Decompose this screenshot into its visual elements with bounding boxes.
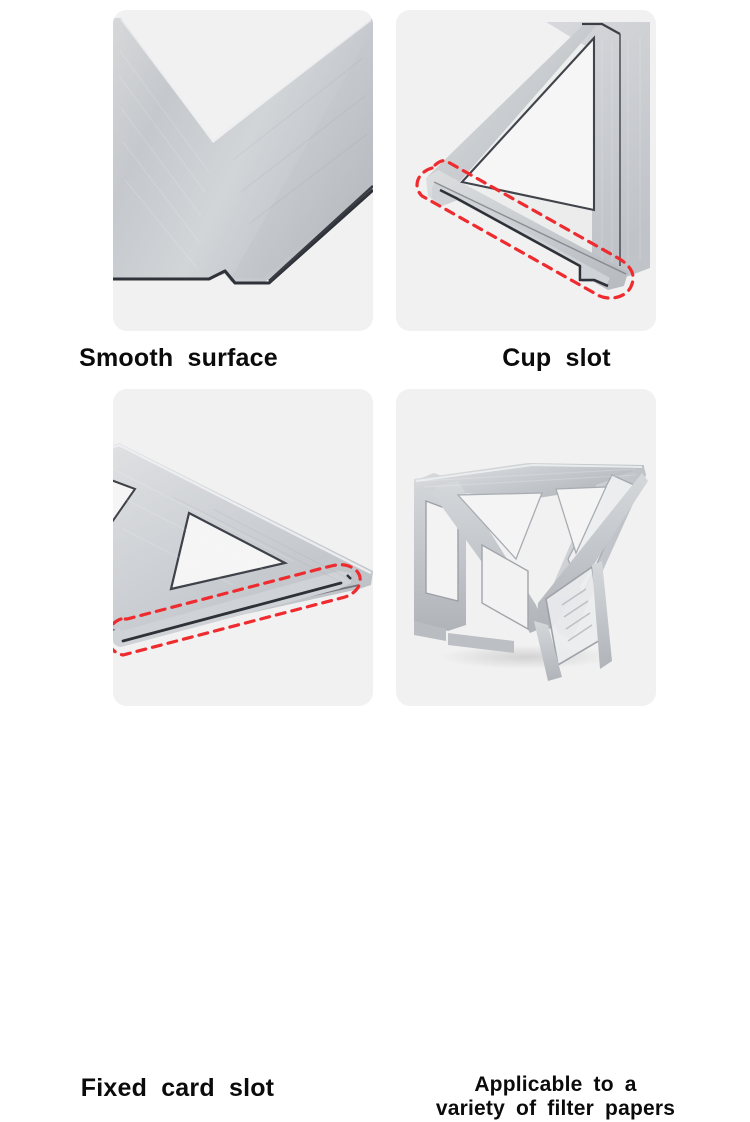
feature-cell-filter-papers[interactable]: Applicable to a variety of filter papers <box>375 375 750 750</box>
fixed-card-slot-illustration <box>113 389 373 706</box>
smooth-surface-illustration <box>113 10 373 331</box>
caption-cup-slot: Cup slot <box>369 345 744 372</box>
feature-grid: Smooth surface <box>0 0 750 750</box>
feature-cell-fixed-card-slot[interactable]: Fixed card slot <box>0 375 375 750</box>
product-image-cup-slot[interactable] <box>396 10 656 331</box>
feature-cell-cup-slot[interactable]: Cup slot <box>375 0 750 375</box>
product-image-smooth-surface[interactable] <box>113 10 373 331</box>
product-feature-sheet: Smooth surface <box>0 0 750 750</box>
caption-filter-papers: Applicable to a variety of filter papers <box>368 1073 743 1122</box>
cup-slot-illustration <box>396 10 656 331</box>
feature-cell-smooth-surface[interactable]: Smooth surface <box>0 0 375 375</box>
product-image-assembled-stand[interactable] <box>396 389 656 706</box>
caption-fixed-card-slot: Fixed card slot <box>0 1075 365 1102</box>
caption-smooth-surface: Smooth surface <box>0 345 366 372</box>
assembled-stand-illustration <box>396 389 656 706</box>
product-image-fixed-card-slot[interactable] <box>113 389 373 706</box>
